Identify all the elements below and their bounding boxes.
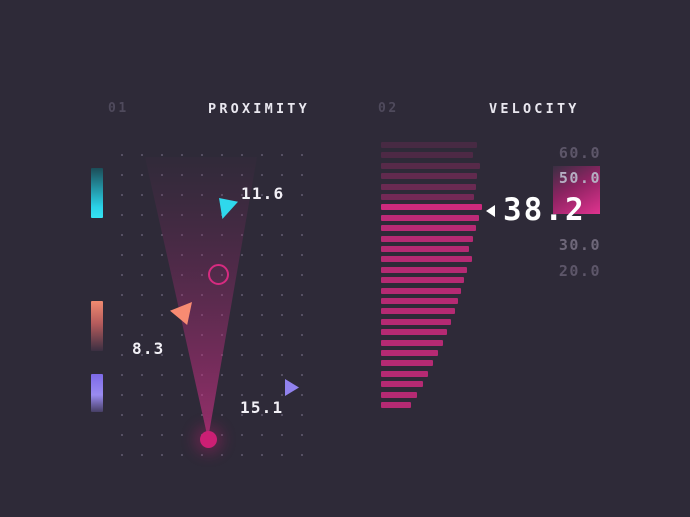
velocity-bar[interactable] — [381, 163, 480, 169]
panel-title-proximity: PROXIMITY — [208, 101, 310, 117]
velocity-current-value: 38.2 — [503, 192, 586, 228]
proximity-reading-1: 11.6 — [241, 184, 284, 203]
velocity-bar[interactable] — [381, 215, 479, 221]
velocity-bar[interactable] — [381, 392, 417, 398]
velocity-bar[interactable] — [381, 288, 461, 294]
velocity-bar[interactable] — [381, 360, 433, 366]
velocity-bar[interactable] — [381, 173, 477, 179]
proximity-reading-3: 15.1 — [240, 398, 283, 417]
panel-index-02: 02 — [378, 101, 399, 116]
velocity-bar[interactable] — [381, 194, 474, 200]
velocity-bar[interactable] — [381, 402, 411, 408]
legend-bar-purple[interactable] — [91, 374, 103, 412]
velocity-bar[interactable] — [381, 267, 467, 273]
dashboard-root: 01 PROXIMITY 02 VELOCITY 11.6 8.3 15.1 — [0, 0, 690, 517]
velocity-bar[interactable] — [381, 329, 447, 335]
velocity-bar[interactable] — [381, 236, 473, 242]
panel-title-velocity: VELOCITY — [489, 101, 580, 117]
velocity-bar[interactable] — [381, 246, 469, 252]
panel-index-01: 01 — [108, 101, 129, 116]
legend-bar-salmon[interactable] — [91, 301, 103, 351]
velocity-tick-20: 20.0 — [559, 262, 601, 280]
velocity-bar[interactable] — [381, 225, 476, 231]
velocity-bar[interactable] — [381, 142, 477, 148]
proximity-target-ring[interactable] — [208, 264, 229, 285]
proximity-reading-2: 8.3 — [132, 339, 165, 358]
velocity-bar[interactable] — [381, 277, 464, 283]
proximity-emitter-dot[interactable] — [200, 431, 217, 448]
velocity-bar[interactable] — [381, 204, 482, 210]
velocity-bar[interactable] — [381, 308, 455, 314]
velocity-tick-50: 50.0 — [559, 169, 601, 187]
velocity-bar[interactable] — [381, 340, 443, 346]
velocity-bar[interactable] — [381, 371, 428, 377]
velocity-bar[interactable] — [381, 350, 438, 356]
velocity-tick-30: 30.0 — [559, 236, 601, 254]
velocity-bar[interactable] — [381, 381, 423, 387]
velocity-bar-chart[interactable] — [381, 142, 501, 414]
velocity-tick-60: 60.0 — [559, 144, 601, 162]
velocity-bar[interactable] — [381, 319, 451, 325]
velocity-bar[interactable] — [381, 184, 476, 190]
velocity-bar[interactable] — [381, 152, 473, 158]
legend-bar-cyan[interactable] — [91, 168, 103, 218]
velocity-bar[interactable] — [381, 298, 458, 304]
velocity-bar[interactable] — [381, 256, 472, 262]
